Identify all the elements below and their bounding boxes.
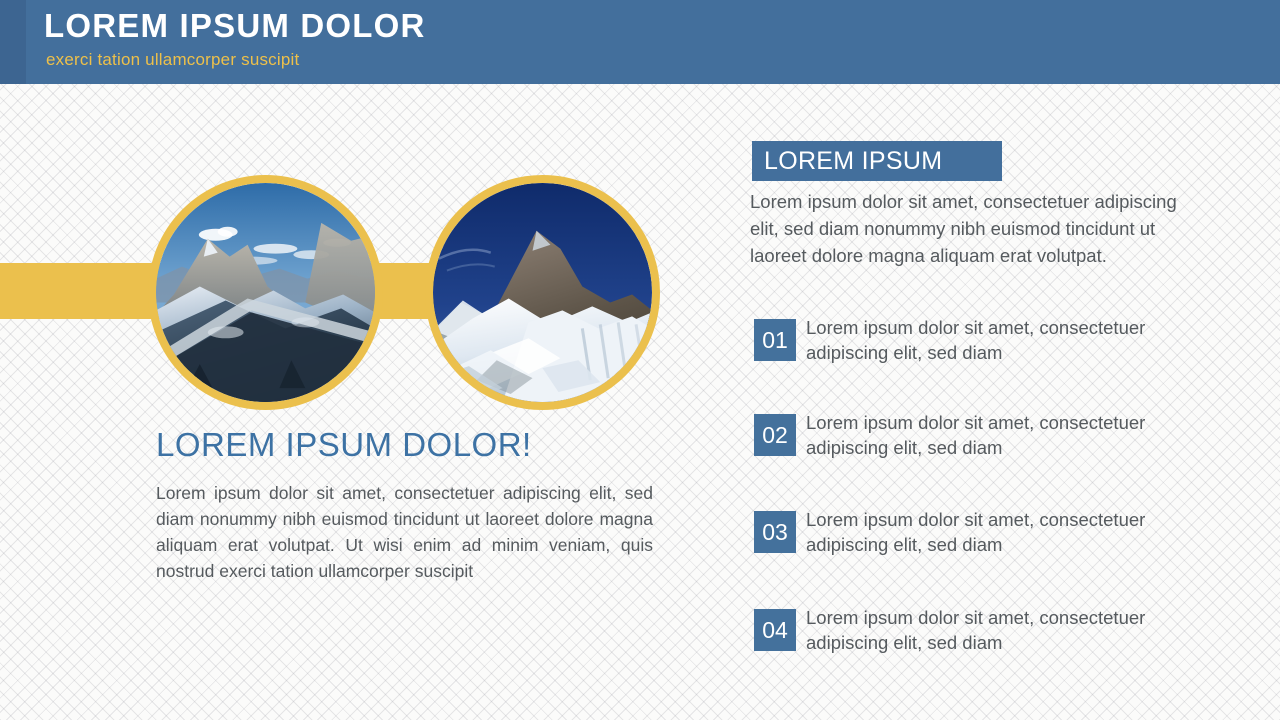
- list-item[interactable]: 01 Lorem ipsum dolor sit amet, consectet…: [754, 319, 1184, 363]
- right-section-title: LOREM IPSUM: [764, 147, 942, 176]
- list-item-label: Lorem ipsum dolor sit amet, consectetuer…: [806, 315, 1184, 365]
- left-section-paragraph: Lorem ipsum dolor sit amet, consectetuer…: [156, 480, 653, 584]
- list-item-number-badge: 03: [754, 511, 796, 553]
- list-item-number-badge: 01: [754, 319, 796, 361]
- list-item-number-badge: 04: [754, 609, 796, 651]
- right-section-title-box: LOREM IPSUM: [752, 141, 1002, 181]
- page-subtitle: exerci tation ullamcorper suscipit: [46, 50, 299, 70]
- right-section-paragraph: Lorem ipsum dolor sit amet, consectetuer…: [750, 188, 1182, 269]
- photo-circle-2-image: [433, 183, 652, 402]
- header-bar: LOREM IPSUM DOLOR exerci tation ullamcor…: [0, 0, 1280, 84]
- slide-canvas: LOREM IPSUM DOLOR exerci tation ullamcor…: [0, 0, 1280, 720]
- list-item-number-badge: 02: [754, 414, 796, 456]
- list-item-label: Lorem ipsum dolor sit amet, consectetuer…: [806, 605, 1184, 655]
- list-item-label: Lorem ipsum dolor sit amet, consectetuer…: [806, 507, 1184, 557]
- page-title: LOREM IPSUM DOLOR: [44, 7, 426, 45]
- list-item[interactable]: 04 Lorem ipsum dolor sit amet, consectet…: [754, 609, 1184, 653]
- header-left-accent: [0, 0, 26, 84]
- left-section-heading: LOREM IPSUM DOLOR!: [156, 426, 676, 464]
- photo-circle-mountain-peak[interactable]: [425, 175, 660, 410]
- photo-circle-mountain-valley[interactable]: [148, 175, 383, 410]
- photo-circle-1-image: [156, 183, 375, 402]
- list-item[interactable]: 03 Lorem ipsum dolor sit amet, consectet…: [754, 511, 1184, 555]
- list-item[interactable]: 02 Lorem ipsum dolor sit amet, consectet…: [754, 414, 1184, 458]
- list-item-label: Lorem ipsum dolor sit amet, consectetuer…: [806, 410, 1184, 460]
